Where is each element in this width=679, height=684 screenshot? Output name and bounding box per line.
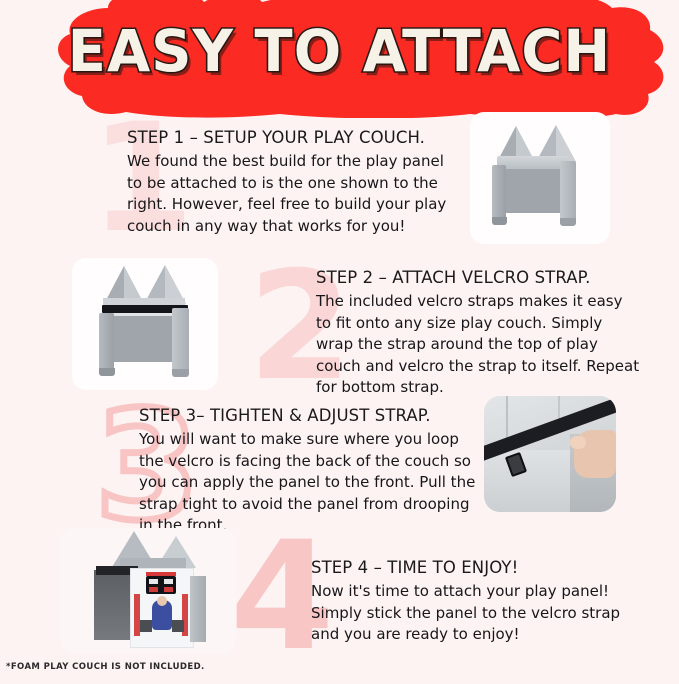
step-3-heading: STEP 3– TIGHTEN & ADJUST STRAP. [139, 406, 476, 425]
side-panel-right [560, 161, 576, 223]
step-2-heading: STEP 2 – ATTACH VELCRO STRAP. [316, 268, 641, 287]
step-4-heading: STEP 4 – TIME TO ENJOY! [311, 558, 641, 577]
top-cushion [497, 156, 569, 169]
top-cushion [103, 298, 185, 305]
panel-slot-left [140, 620, 152, 632]
couch-with-panel-illustration [60, 528, 236, 653]
couch-illustration-2 [72, 258, 218, 390]
seat-back [504, 169, 562, 213]
step-1-heading: STEP 1 – SETUP YOUR PLAY COUCH. [127, 128, 463, 147]
step-3-image [484, 396, 616, 512]
panel-screen-digits-2 [164, 579, 173, 584]
seat-back [112, 316, 174, 362]
step-2-image [72, 258, 218, 390]
side-panel-left [99, 313, 114, 373]
step-4-body: Now it's time to attach your play panel!… [311, 581, 641, 646]
page-title: EASY TO ATTACH [0, 14, 679, 88]
foot-left [99, 368, 115, 376]
strap-closeup-illustration [484, 396, 616, 512]
side-panel-left [492, 165, 506, 222]
panel-button-left [149, 587, 158, 592]
foot-right [172, 369, 189, 377]
foot-left [492, 217, 507, 225]
couch-left-side-dark [94, 570, 130, 640]
panel-screen-digits [149, 579, 158, 584]
side-panel-right [172, 308, 189, 373]
panel-player-head [157, 596, 167, 606]
step-1-image [470, 112, 610, 244]
step-4-image [60, 528, 236, 653]
step-4-text: STEP 4 – TIME TO ENJOY! Now it's time to… [311, 558, 641, 646]
footnote-disclaimer: *FOAM PLAY COUCH IS NOT INCLUDED. [6, 662, 205, 672]
thumb [570, 436, 586, 449]
step-2-body: The included velcro straps makes it easy… [316, 291, 641, 399]
couch-right-side [190, 576, 206, 642]
step-2-text: STEP 2 – ATTACH VELCRO STRAP. The includ… [316, 268, 641, 399]
couch-illustration-1 [470, 112, 610, 244]
panel-slot-right [172, 620, 184, 632]
panel-button-right [164, 587, 173, 592]
foot-right [560, 218, 576, 226]
step-1-text: STEP 1 – SETUP YOUR PLAY COUCH. We found… [127, 128, 463, 237]
step-1-body: We found the best build for the play pan… [127, 151, 463, 237]
